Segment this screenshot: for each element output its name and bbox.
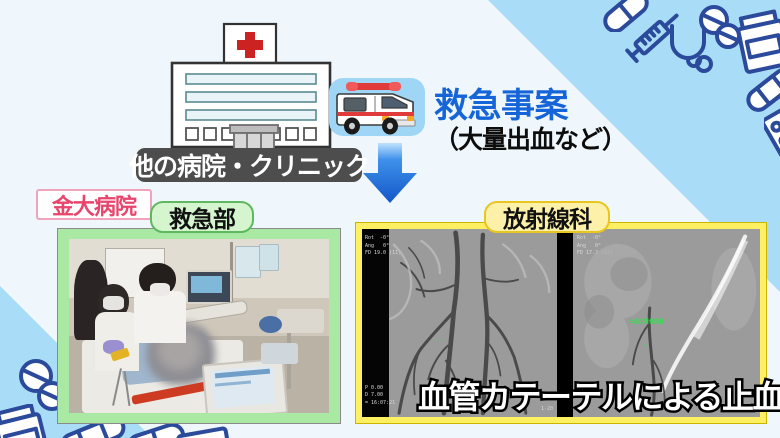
emergency-department-label: 救急部 [150, 201, 254, 233]
angiogram-right-annotation-arrow: ↙ [644, 342, 647, 349]
angiogram-left-annotation: ✓ ✓ [436, 338, 445, 345]
tablet-pills-icon [696, 4, 746, 52]
capsule-pill-icon [596, 0, 656, 32]
catheter-hemostasis-caption: 血管カテーテルによる止血 [418, 372, 780, 418]
emergency-case-title: 救急事案 [434, 88, 626, 124]
medicine-bottle-icon [736, 8, 780, 74]
hospital-building-icon [158, 22, 344, 154]
ambulance-icon [327, 70, 427, 142]
angiogram-right-annotation: 出血の責任血管 [629, 319, 664, 326]
emergency-department-photo-frame [57, 228, 341, 424]
pill-pack-icon [764, 104, 780, 158]
bandage-icon [742, 66, 780, 114]
pill-box-icon [176, 424, 232, 438]
other-hospital-label: 他の病院・クリニック [136, 148, 362, 182]
medicine-bottle-icon [0, 404, 52, 438]
emergency-case-text-block: 救急事案 （大量出血など） [434, 88, 626, 154]
emergency-department-photo [69, 239, 329, 413]
kindai-hospital-label: 金大病院 [36, 189, 152, 220]
stethoscope-icon [664, 22, 716, 82]
syringe-icon [620, 4, 690, 66]
emergency-case-subtitle: （大量出血など） [434, 126, 626, 154]
radiology-department-label: 放射線科 [484, 201, 610, 233]
infographic-canvas: 他の病院・クリニック 金大病院 救急部 放射線科 救急事案 （大量出血など） [0, 0, 780, 438]
